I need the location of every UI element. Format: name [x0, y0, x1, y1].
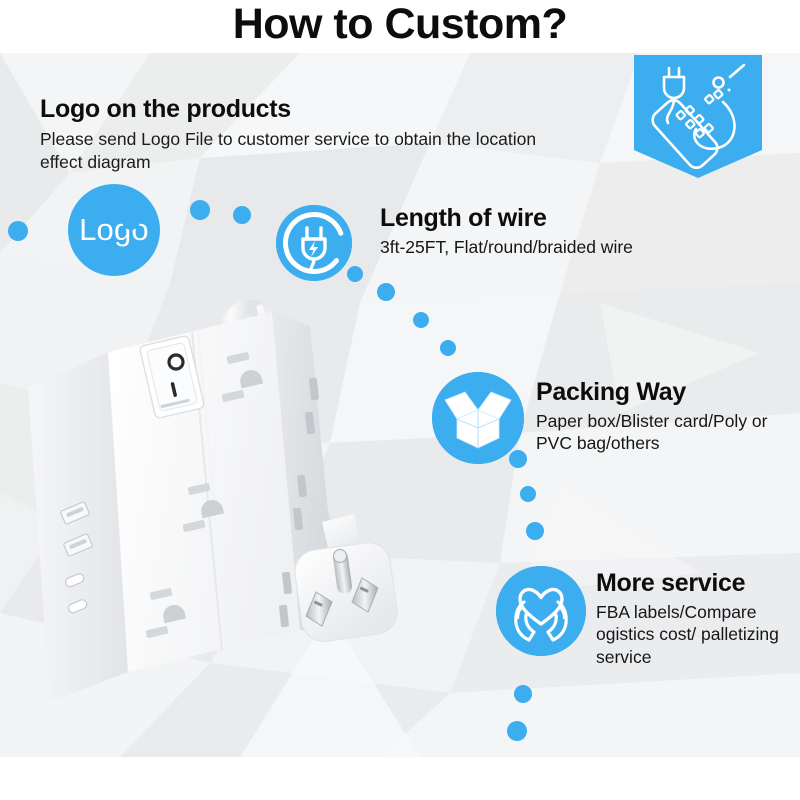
logo-section-heading: Logo on the products	[40, 95, 560, 124]
trail-dot	[377, 283, 395, 301]
heart-in-hands-icon	[496, 566, 586, 656]
feature-badge-more-service	[496, 566, 586, 656]
header-bar: How to Custom?	[0, 0, 800, 53]
power-strip-illustration	[10, 300, 530, 730]
trail-dot	[122, 212, 140, 230]
feature-text-packing-way: Packing Way Paper box/Blister card/Poly …	[536, 379, 800, 455]
trail-dot	[233, 206, 251, 224]
feature-title: Packing Way	[536, 379, 800, 407]
feature-text-length-of-wire: Length of wire 3ft-25FT, Flat/round/brai…	[380, 205, 633, 258]
logo-bubble: Logo	[68, 184, 160, 276]
feature-badge-packing-way	[432, 372, 524, 464]
logo-on-products-section: Logo on the products Please send Logo Fi…	[40, 95, 560, 175]
feature-badge-length-of-wire	[276, 205, 352, 281]
feature-body: Paper box/Blister card/Poly or PVC bag/o…	[536, 410, 800, 456]
trail-dot	[190, 200, 210, 220]
open-box-icon	[432, 372, 524, 464]
trail-dot	[8, 221, 28, 241]
plug-bolt-icon	[276, 205, 352, 281]
feature-title: Length of wire	[380, 205, 633, 233]
infographic-page: How to Custom?	[0, 0, 800, 800]
logo-section-body: Please send Logo File to customer servic…	[40, 128, 560, 175]
feature-text-more-service: More service FBA labels/Compare ogistics…	[596, 570, 800, 669]
product-image	[10, 300, 530, 730]
feature-body: FBA labels/Compare ogistics cost/ pallet…	[596, 601, 800, 669]
feature-body: 3ft-25FT, Flat/round/braided wire	[380, 236, 633, 259]
pennant-badge	[634, 55, 762, 178]
feature-title: More service	[596, 570, 800, 598]
power-strip-plug-icon	[634, 55, 762, 178]
page-title: How to Custom?	[233, 3, 568, 50]
